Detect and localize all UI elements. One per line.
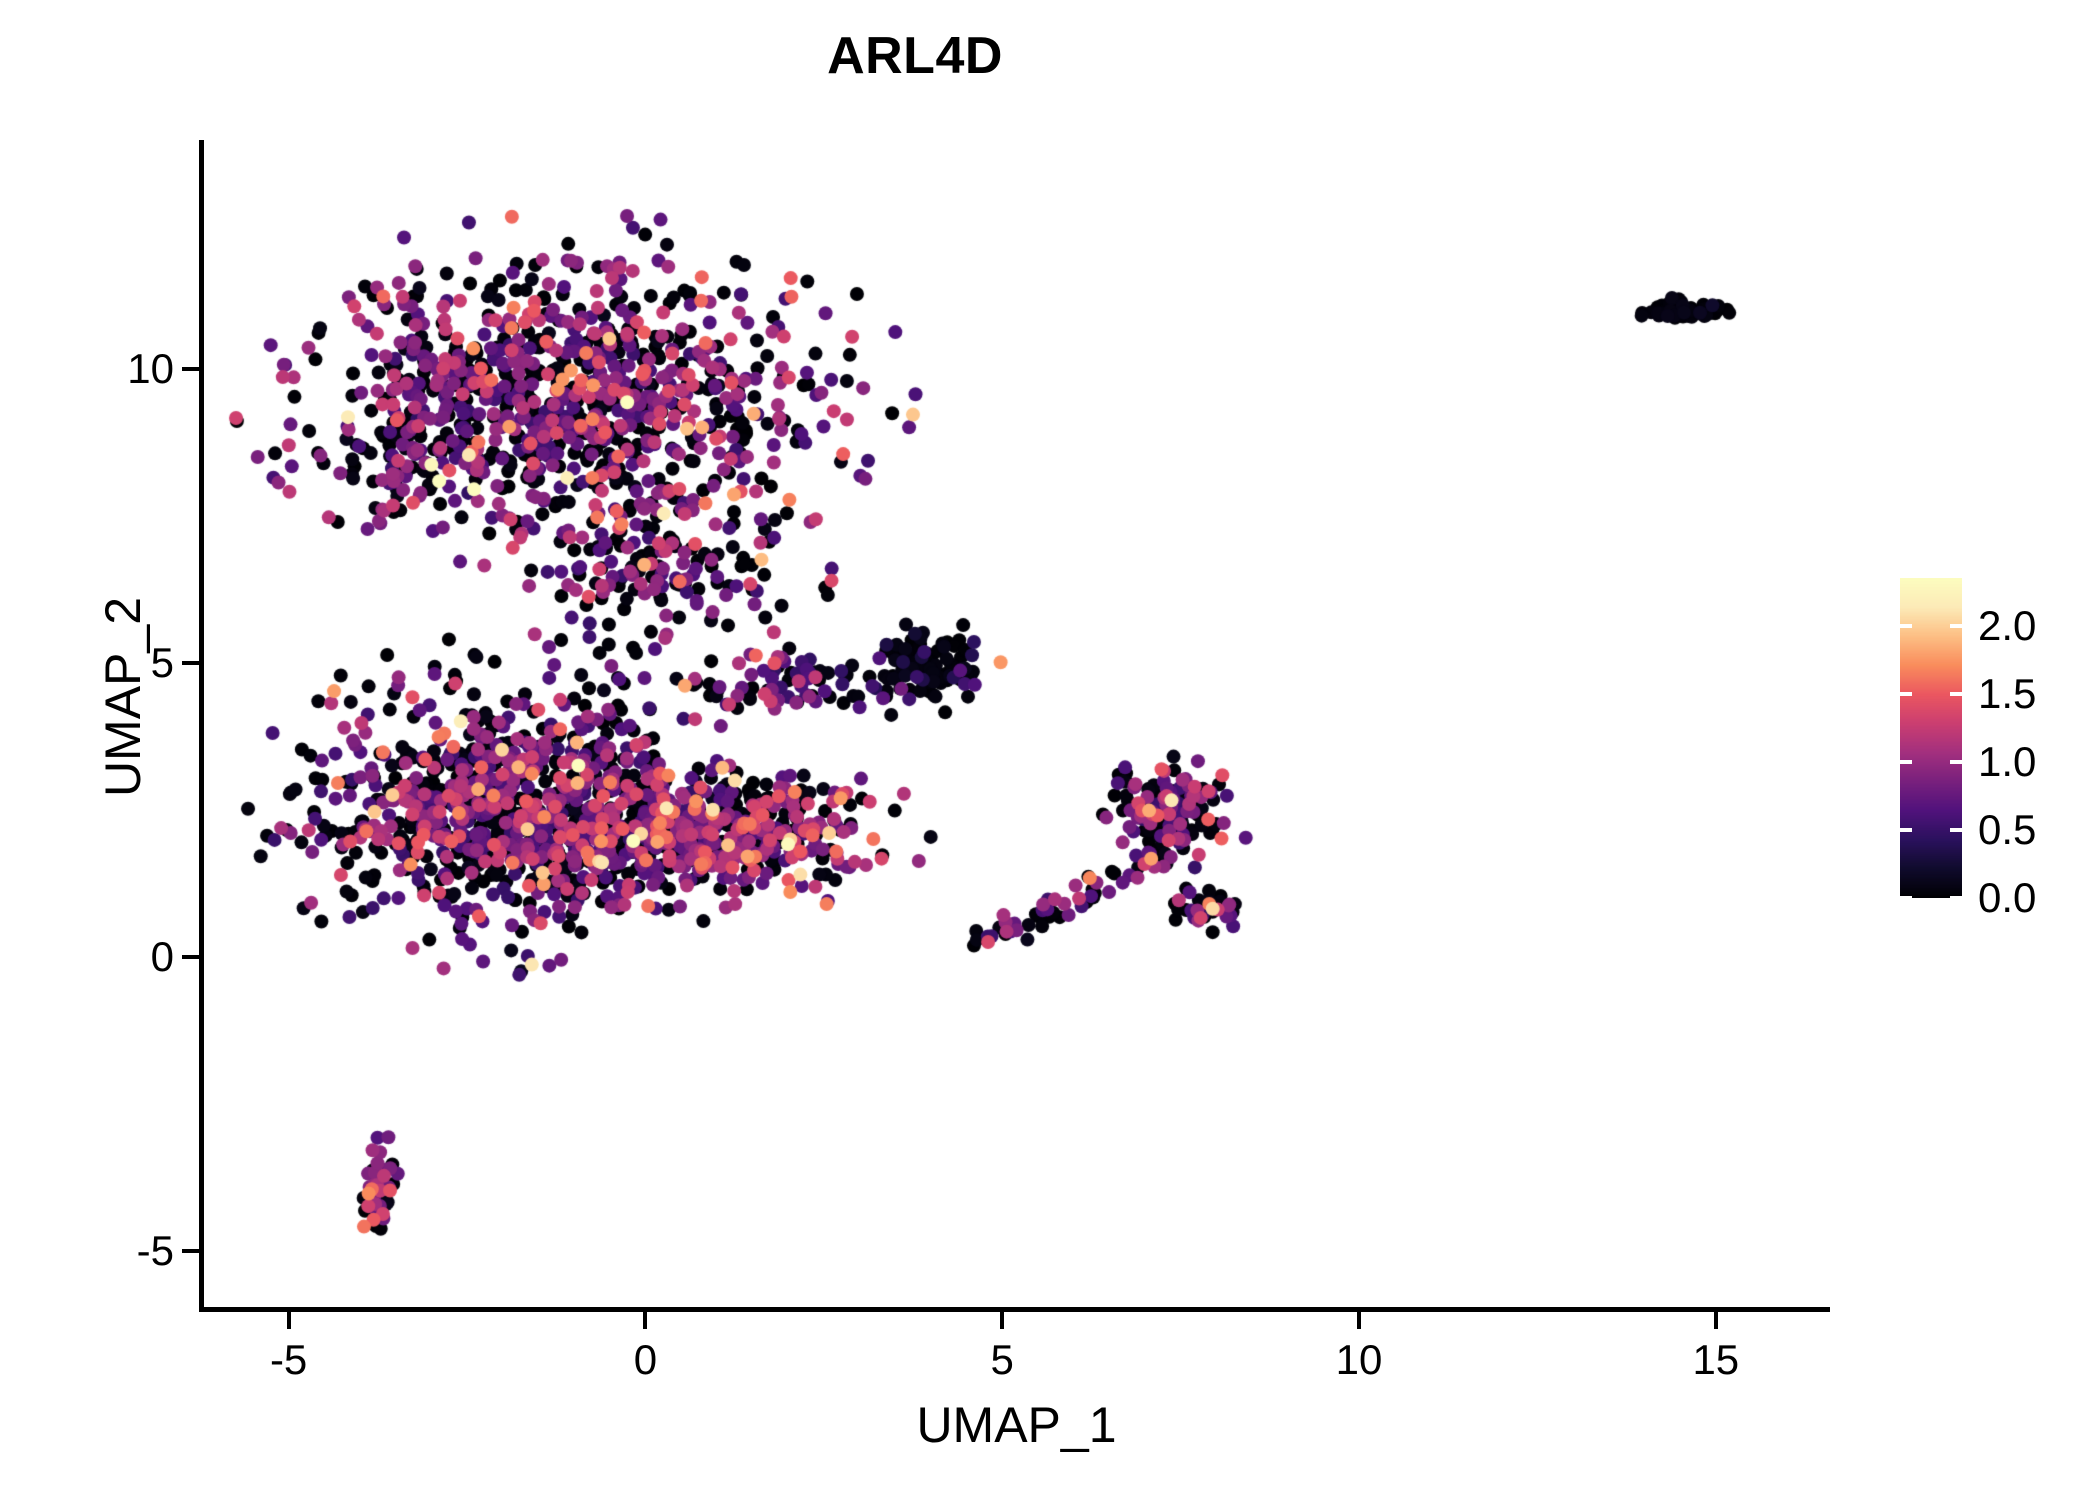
x-tick-label: -5	[270, 1336, 307, 1384]
x-tick-mark	[1000, 1312, 1004, 1329]
x-tick-label: 0	[634, 1336, 657, 1384]
x-tick-mark	[643, 1312, 647, 1329]
x-axis-line	[199, 1307, 1830, 1312]
x-tick-mark	[1357, 1312, 1361, 1329]
y-tick-label: 0	[151, 933, 174, 981]
y-tick-label: 5	[151, 639, 174, 687]
umap-feature-plot: ARL4D -50510 -5051015 UMAP_1 UMAP_2 0.00…	[0, 0, 2100, 1500]
x-tick-mark	[287, 1312, 291, 1329]
x-axis-title: UMAP_1	[203, 1396, 1830, 1454]
x-tick-label: 15	[1692, 1336, 1739, 1384]
x-tick-mark	[1714, 1312, 1718, 1329]
y-axis-title: UMAP_2	[94, 297, 152, 1097]
y-tick-mark	[182, 955, 199, 959]
plot-panel	[203, 140, 1830, 1310]
legend-tick-label: 2.0	[1978, 602, 2036, 650]
page-title: ARL4D	[0, 26, 1830, 86]
scatter-points-layer	[203, 140, 1830, 1310]
legend-tick-label: 1.0	[1978, 738, 2036, 786]
color-legend: 0.00.51.01.52.0	[1900, 578, 2080, 908]
y-tick-mark	[182, 1249, 199, 1253]
x-tick-label: 5	[991, 1336, 1014, 1384]
y-tick-mark	[182, 367, 199, 371]
legend-tick-label: 1.5	[1978, 670, 2036, 718]
x-tick-label: 10	[1336, 1336, 1383, 1384]
y-axis-line	[199, 140, 204, 1312]
legend-tick-label: 0.0	[1978, 874, 2036, 922]
legend-colorbar	[1900, 578, 1962, 898]
legend-tick-label: 0.5	[1978, 806, 2036, 854]
y-tick-label: -5	[137, 1227, 174, 1275]
y-tick-mark	[182, 661, 199, 665]
